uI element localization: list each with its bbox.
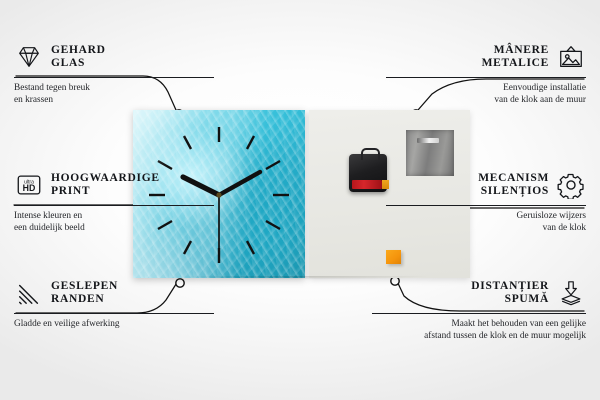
- mechanism-hanger-loop: [361, 148, 380, 160]
- battery: [352, 180, 382, 189]
- clock-center-cap: [216, 192, 221, 197]
- feature-header: MECANISMSILENȚIOS: [386, 168, 586, 202]
- divider: [14, 205, 214, 206]
- feature-header: GEHARDGLAS: [14, 40, 214, 74]
- feature-header: ultra HD HOOGWAARDIGEPRINT: [14, 168, 214, 202]
- feature-description: Bestand tegen breuken krassen: [14, 82, 214, 107]
- divider: [14, 313, 214, 314]
- feature-header: DISTANȚIERSPUMĂ: [372, 276, 586, 310]
- clock-mechanism: [349, 154, 387, 192]
- feature-title: GEHARDGLAS: [51, 44, 106, 71]
- feature-header: GESLEPENRANDEN: [14, 276, 214, 310]
- feature-hoogwaardige-print: ultra HD HOOGWAARDIGEPRINT Intense kleur…: [14, 168, 214, 235]
- feature-title: GESLEPENRANDEN: [51, 280, 118, 307]
- feature-header: MÂNEREMETALICE: [386, 40, 586, 74]
- feature-distantier-spuma: DISTANȚIERSPUMĂ Maakt het behouden van e…: [372, 276, 586, 343]
- feature-title: MECANISMSILENȚIOS: [478, 172, 549, 199]
- feature-gehard-glas: GEHARDGLAS Bestand tegen breuken krassen: [14, 40, 214, 107]
- spacer-foam-icon: [556, 278, 586, 308]
- feature-description: Intense kleuren eneen duidelijk beeld: [14, 210, 214, 235]
- feature-title: MÂNEREMETALICE: [482, 44, 549, 71]
- feature-title: DISTANȚIERSPUMĂ: [471, 280, 549, 307]
- foam-spacer: [386, 250, 401, 264]
- feature-description: Eenvoudige installatievan de klok aan de…: [386, 82, 586, 107]
- feature-description: Gladde en veilige afwerking: [14, 318, 214, 330]
- feature-description: Maakt het behouden van een gelijkeafstan…: [372, 318, 586, 343]
- feature-title: HOOGWAARDIGEPRINT: [51, 172, 160, 199]
- feature-mecanism-silentios: MECANISMSILENȚIOS Geruisloze wijzersvan …: [386, 168, 586, 235]
- divider: [14, 77, 214, 78]
- beveled-edges-icon: [14, 278, 44, 308]
- infographic-canvas: GEHARDGLAS Bestand tegen breuken krassen…: [0, 0, 600, 400]
- feature-geslepen-randen: GESLEPENRANDEN Gladde en veilige afwerki…: [14, 276, 214, 330]
- divider: [372, 313, 586, 314]
- divider: [386, 205, 586, 206]
- feature-description: Geruisloze wijzersvan de klok: [386, 210, 586, 235]
- ultra-hd-icon: ultra HD: [14, 170, 44, 200]
- feature-manere-metalice: MÂNEREMETALICE Eenvoudige installatievan…: [386, 40, 586, 107]
- hanger-slot: [417, 138, 439, 143]
- hd-label: HD: [23, 183, 36, 193]
- divider: [386, 77, 586, 78]
- minute-hand: [219, 172, 260, 195]
- picture-hanger-icon: [556, 42, 586, 72]
- gear-icon: [556, 170, 586, 200]
- diamond-icon: [14, 42, 44, 72]
